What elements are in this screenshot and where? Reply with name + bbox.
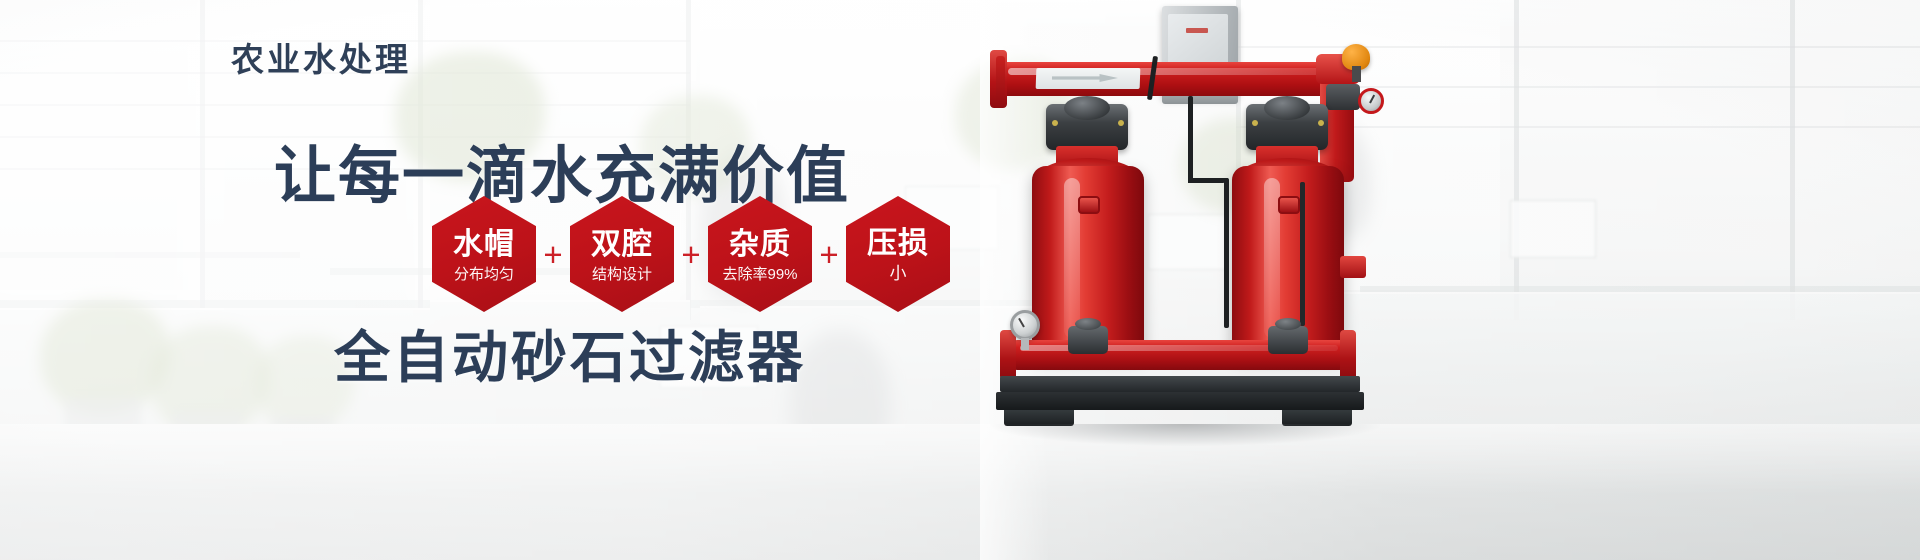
air-valve-stem <box>1352 66 1361 82</box>
sand-filter-equipment-image <box>990 0 1460 460</box>
inspection-port-left <box>1078 196 1100 214</box>
feature-badge-row: 水帽 分布均匀 + 双腔 结构设计 + 杂质 去除率99% + 压损 小 <box>432 196 950 312</box>
copy-block: 农业水处理 让每一滴水充满价值 全自动砂石过滤器 水帽 分布均匀 + 双腔 结构… <box>0 0 1040 560</box>
side-nozzle <box>1340 256 1366 278</box>
feature-badge-pressure-loss[interactable]: 压损 小 <box>846 196 950 312</box>
inspection-port-right <box>1278 196 1300 214</box>
badge-title: 压损 <box>867 228 929 260</box>
valve-bolt <box>1118 120 1124 126</box>
valve-bolt <box>1252 120 1258 126</box>
product-name-title: 全自动砂石过滤器 <box>334 327 806 389</box>
feature-badge-impurity[interactable]: 杂质 去除率99% <box>708 196 812 312</box>
badge-subtitle: 去除率99% <box>722 267 797 284</box>
badge-subtitle: 分布均匀 <box>454 267 514 284</box>
feature-badge-dual-chamber[interactable]: 双腔 结构设计 <box>570 196 674 312</box>
valve-bolt <box>1318 120 1324 126</box>
base-frame-top <box>1000 376 1360 392</box>
badge-title: 水帽 <box>453 229 515 261</box>
control-cable <box>1224 178 1229 328</box>
equipment-shadow <box>990 424 1380 446</box>
plus-separator-icon: + <box>674 238 708 271</box>
top-right-valve <box>1326 84 1360 110</box>
plus-separator-icon: + <box>536 238 570 271</box>
control-box-display <box>1186 28 1208 33</box>
valve-cap-right <box>1264 96 1310 120</box>
promo-banner: 农业水处理 让每一滴水充满价值 全自动砂石过滤器 水帽 分布均匀 + 双腔 结构… <box>0 0 1920 560</box>
badge-title: 双腔 <box>591 229 653 261</box>
pipe-flange-bottom-right <box>1340 330 1356 380</box>
badge-title: 杂质 <box>729 229 791 261</box>
drain-valve-cap <box>1275 318 1301 330</box>
control-cable <box>1300 182 1305 326</box>
drain-valve-right <box>1268 326 1308 354</box>
control-cable <box>1188 178 1228 183</box>
base-frame-body <box>996 392 1364 410</box>
badge-subtitle: 结构设计 <box>592 267 652 284</box>
valve-bolt <box>1052 120 1058 126</box>
plus-separator-icon: + <box>812 238 846 271</box>
badge-subtitle: 小 <box>890 265 907 284</box>
drain-valve-left <box>1068 326 1108 354</box>
feature-badge-water-cap[interactable]: 水帽 分布均匀 <box>432 196 536 312</box>
control-cable <box>1188 96 1193 182</box>
eyebrow-text: 农业水处理 <box>231 40 411 80</box>
valve-cap-left <box>1064 96 1110 120</box>
drain-valve-cap <box>1075 318 1101 330</box>
